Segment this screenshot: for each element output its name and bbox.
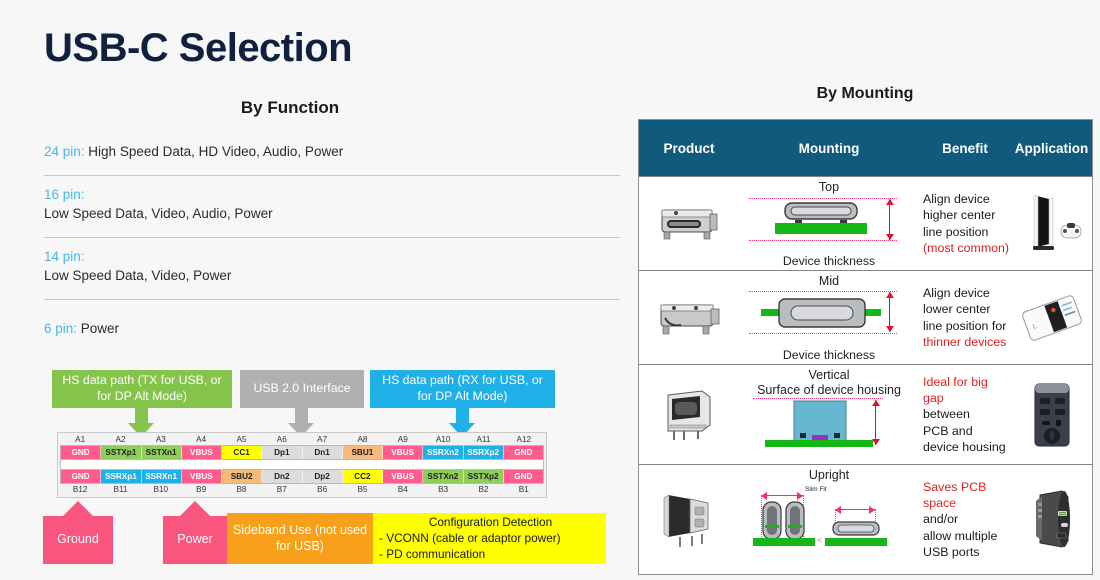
cell-mounting: Vertical Surface of device housing bbox=[739, 365, 919, 464]
power-strip-icon bbox=[1027, 380, 1077, 450]
pin-cell-b: Dn2 bbox=[262, 470, 302, 483]
benefit-line: between bbox=[923, 406, 1011, 422]
mounting-label: Vertical bbox=[809, 368, 850, 382]
cell-product bbox=[639, 271, 739, 364]
pcb-board-flat bbox=[825, 538, 887, 546]
pin-index-b: B2 bbox=[463, 484, 503, 495]
width-dimension-upright bbox=[761, 495, 803, 496]
housing-gap-dimension bbox=[875, 400, 876, 445]
pin-cell-a: SBU1 bbox=[343, 446, 383, 459]
divider bbox=[44, 299, 620, 300]
column-header-product: Product bbox=[639, 141, 739, 156]
pin-index-a: A5 bbox=[221, 434, 261, 445]
pin-index-a: A6 bbox=[262, 434, 302, 445]
pin-count-label: 16 pin: bbox=[44, 187, 85, 202]
pin-cell-a: SSRXn2 bbox=[423, 446, 463, 459]
benefit-highlight: Saves PCB space bbox=[923, 479, 1011, 511]
less-than-symbol: < bbox=[817, 536, 822, 545]
benefit-line: and/or bbox=[923, 511, 1011, 527]
cell-benefit: Saves PCB space and/or allow multiple US… bbox=[919, 465, 1011, 574]
mounting-table-header: Product Mounting Benefit Application bbox=[639, 120, 1092, 176]
pin-desc: Power bbox=[77, 321, 119, 336]
width-dimension-flat bbox=[835, 509, 875, 510]
pin-cell-b: Dp2 bbox=[303, 470, 343, 483]
pin-index-a: A9 bbox=[383, 434, 423, 445]
arrow-usb2-stem bbox=[295, 408, 308, 424]
benefit-line: USB ports bbox=[923, 544, 1011, 560]
pinout-b-signal-row: GNDSSRXp1SSRXn1VBUSSBU2Dn2Dp2CC2VBUSSSTX… bbox=[60, 469, 544, 484]
function-list: 24 pin: High Speed Data, HD Video, Audio… bbox=[44, 142, 620, 344]
banner-usb20: USB 2.0 Interface bbox=[240, 370, 364, 408]
usb-c-pinout-table: A1A2A3A4A5A6A7A8A9A10A11A12 GNDSSTXp1SST… bbox=[57, 432, 547, 498]
column-header-benefit: Benefit bbox=[919, 141, 1011, 156]
usb-c-upright-connector-icon bbox=[656, 489, 722, 551]
mounting-sublabel: Device thickness bbox=[783, 254, 875, 270]
pin-cell-a: SSTXp1 bbox=[101, 446, 141, 459]
by-mounting-heading: By Mounting bbox=[640, 85, 1090, 103]
function-item-14pin: 14 pin: Low Speed Data, Video, Power bbox=[44, 247, 620, 292]
pin-desc: High Speed Data, HD Video, Audio, Power bbox=[85, 144, 344, 159]
cell-product bbox=[639, 465, 739, 574]
pin-count-label: 14 pin: bbox=[44, 249, 85, 264]
mounting-sublabel: Device thickness bbox=[783, 348, 875, 364]
cell-application bbox=[1011, 365, 1092, 464]
pin-count-label: 6 pin: bbox=[44, 321, 77, 336]
dim-line-bottom bbox=[749, 333, 897, 334]
pin-desc: Low Speed Data, Video, Audio, Power bbox=[44, 206, 273, 221]
usb-c-mid-mount-connector-icon bbox=[656, 296, 722, 340]
pin-cell-a: Dp1 bbox=[262, 446, 302, 459]
pinout-a-index-row: A1A2A3A4A5A6A7A8A9A10A11A12 bbox=[60, 434, 544, 445]
function-item-16pin: 16 pin: Low Speed Data, Video, Audio, Po… bbox=[44, 185, 620, 230]
pin-index-a: A1 bbox=[60, 434, 100, 445]
pin-cell-a: SSTXn1 bbox=[142, 446, 182, 459]
pin-index-b: B5 bbox=[342, 484, 382, 495]
pin-index-a: A7 bbox=[302, 434, 342, 445]
pin-index-a: A3 bbox=[141, 434, 181, 445]
mounting-label: Upright bbox=[809, 468, 849, 482]
cell-benefit: Ideal for big gap between PCB and device… bbox=[919, 365, 1011, 464]
arrow-up-icon bbox=[180, 501, 210, 516]
dim-line-bottom bbox=[749, 240, 897, 241]
pin-cell-a: Dn1 bbox=[303, 446, 343, 459]
function-item-6pin: 6 pin: Power bbox=[44, 309, 620, 345]
benefit-line: lower center bbox=[923, 301, 1006, 317]
cell-product bbox=[639, 365, 739, 464]
divider bbox=[44, 175, 620, 176]
car-charger-icon bbox=[1022, 485, 1082, 555]
benefit-line: Align device bbox=[923, 191, 1009, 207]
pin-index-b: B9 bbox=[181, 484, 221, 495]
benefit-line: device housing bbox=[923, 439, 1011, 455]
table-row: Upright Slim Fit bbox=[639, 464, 1092, 574]
benefit-line: line position bbox=[923, 224, 1009, 240]
mounting-label: Top bbox=[819, 180, 839, 194]
benefit-text: Saves PCB space and/or allow multiple US… bbox=[923, 479, 1011, 560]
function-item-24pin: 24 pin: High Speed Data, HD Video, Audio… bbox=[44, 142, 620, 168]
config-title: Configuration Detection bbox=[379, 515, 602, 531]
benefit-line: line position for bbox=[923, 318, 1006, 334]
by-function-heading: By Function bbox=[40, 98, 540, 118]
pin-index-a: A8 bbox=[342, 434, 382, 445]
benefit-highlight: Ideal for big gap bbox=[923, 374, 1011, 406]
pin-index-b: B10 bbox=[141, 484, 181, 495]
cell-product bbox=[639, 177, 739, 270]
legend-config-detection: Configuration Detection - VCONN (cable o… bbox=[373, 513, 606, 564]
benefit-line: Align device bbox=[923, 285, 1006, 301]
table-row: Mid Device thickness Align device lower bbox=[639, 270, 1092, 364]
benefit-line: higher center bbox=[923, 207, 1009, 223]
benefit-text: Ideal for big gap between PCB and device… bbox=[923, 374, 1011, 455]
pinout-b-index-row: B12B11B10B9B8B7B6B5B4B3B2B1 bbox=[60, 484, 544, 495]
pin-index-a: A4 bbox=[181, 434, 221, 445]
mounting-diagram-top bbox=[739, 194, 919, 254]
pin-cell-b: CC2 bbox=[343, 470, 383, 483]
config-item-pd: - PD communication bbox=[379, 547, 602, 563]
pin-index-a: A10 bbox=[423, 434, 463, 445]
device-thickness-dimension bbox=[889, 199, 890, 240]
cell-application bbox=[1011, 177, 1092, 270]
dim-line-top bbox=[749, 291, 897, 292]
benefit-text: Align device higher center line position… bbox=[923, 191, 1009, 256]
benefit-highlight: (most common) bbox=[923, 240, 1009, 256]
pcb-board bbox=[765, 440, 873, 447]
table-row: Top Device thickness Al bbox=[639, 176, 1092, 270]
pin-index-a: A12 bbox=[504, 434, 544, 445]
usb-c-vertical-connector-icon bbox=[658, 387, 720, 443]
pinout-gap bbox=[60, 460, 544, 469]
usb-c-top-mount-connector-icon bbox=[656, 202, 722, 246]
benefit-text: Align device lower center line position … bbox=[923, 285, 1006, 350]
divider bbox=[44, 237, 620, 238]
pin-cell-a: VBUS bbox=[182, 446, 222, 459]
pin-cell-a: GND bbox=[61, 446, 101, 459]
mounting-diagram-mid bbox=[739, 288, 919, 348]
benefit-highlight: thinner devices bbox=[923, 334, 1006, 350]
slim-fit-note: Slim Fit bbox=[805, 486, 827, 493]
mounting-table: Product Mounting Benefit Application bbox=[638, 119, 1093, 575]
pin-index-b: B6 bbox=[302, 484, 342, 495]
pin-index-b: B1 bbox=[504, 484, 544, 495]
pin-cell-a: GND bbox=[504, 446, 543, 459]
pin-cell-a: SSRXp2 bbox=[464, 446, 504, 459]
banner-hs-tx: HS data path (TX for USB, or for DP Alt … bbox=[52, 370, 232, 408]
smartphone-icon: L bbox=[1019, 291, 1085, 345]
mounting-sublabel: Surface of device housing bbox=[757, 383, 901, 397]
cell-benefit: Align device higher center line position… bbox=[919, 177, 1011, 270]
column-header-application: Application bbox=[1011, 141, 1092, 156]
cell-benefit: Align device lower center line position … bbox=[919, 271, 1011, 364]
pin-index-b: B3 bbox=[423, 484, 463, 495]
arrow-up-icon bbox=[63, 501, 93, 516]
banner-hs-rx: HS data path (RX for USB, or for DP Alt … bbox=[370, 370, 555, 408]
cell-application bbox=[1011, 465, 1092, 574]
pin-cell-b: GND bbox=[504, 470, 543, 483]
flat-connector-profile-icon bbox=[831, 520, 881, 538]
cell-mounting: Top Device thickness bbox=[739, 177, 919, 270]
game-console-icon bbox=[1021, 192, 1083, 256]
connector-profile-icon bbox=[777, 296, 867, 330]
pin-index-a: A11 bbox=[463, 434, 503, 445]
pin-desc: Low Speed Data, Video, Power bbox=[44, 268, 231, 283]
legend-sideband: Sideband Use (not used for USB) bbox=[227, 513, 373, 564]
column-header-mounting: Mounting bbox=[739, 141, 919, 156]
dim-line-top bbox=[749, 198, 897, 199]
pcb-board bbox=[775, 223, 867, 234]
cell-mounting: Upright Slim Fit bbox=[739, 465, 919, 574]
cell-mounting: Mid Device thickness bbox=[739, 271, 919, 364]
legend-power: Power bbox=[163, 516, 227, 564]
legend-ground: Ground bbox=[43, 516, 113, 564]
page-title: USB-C Selection bbox=[44, 26, 352, 70]
pin-index-a: A2 bbox=[100, 434, 140, 445]
benefit-line: allow multiple bbox=[923, 528, 1011, 544]
pin-cell-b: SSRXn1 bbox=[142, 470, 182, 483]
pin-cell-a: CC1 bbox=[222, 446, 262, 459]
pin-count-label: 24 pin: bbox=[44, 144, 85, 159]
mounting-label: Mid bbox=[819, 274, 839, 288]
pin-cell-b: SSRXp1 bbox=[101, 470, 141, 483]
slide-root: USB-C Selection By Function 24 pin: High… bbox=[0, 0, 1100, 580]
pin-index-b: B7 bbox=[262, 484, 302, 495]
pin-cell-b: VBUS bbox=[182, 470, 222, 483]
arrow-rx-stem bbox=[456, 408, 469, 424]
device-thickness-dimension bbox=[889, 292, 890, 332]
pin-index-b: B4 bbox=[383, 484, 423, 495]
upright-connector-pair-icon bbox=[761, 501, 807, 541]
pin-cell-b: GND bbox=[61, 470, 101, 483]
arrow-tx-stem bbox=[135, 408, 148, 424]
pinout-a-signal-row: GNDSSTXp1SSTXn1VBUSCC1Dp1Dn1SBU1VBUSSSRX… bbox=[60, 445, 544, 460]
mounting-diagram-vertical bbox=[739, 397, 919, 464]
pcb-board-upright bbox=[753, 538, 815, 546]
pin-cell-b: SSTXn2 bbox=[423, 470, 463, 483]
mounting-diagram-upright: Slim Fit bbox=[739, 482, 919, 574]
pin-cell-b: VBUS bbox=[383, 470, 423, 483]
pin-cell-b: SSTXp2 bbox=[464, 470, 504, 483]
pin-index-b: B12 bbox=[60, 484, 100, 495]
pin-index-b: B8 bbox=[221, 484, 261, 495]
pin-index-b: B11 bbox=[100, 484, 140, 495]
pin-cell-b: SBU2 bbox=[222, 470, 262, 483]
connector-profile-icon bbox=[783, 201, 859, 223]
cell-application: L bbox=[1011, 271, 1092, 364]
benefit-line: PCB and bbox=[923, 423, 1011, 439]
config-item-vconn: - VCONN (cable or adaptor power) bbox=[379, 531, 602, 547]
pin-cell-a: VBUS bbox=[383, 446, 423, 459]
table-row: Vertical Surface of device housing bbox=[639, 364, 1092, 464]
